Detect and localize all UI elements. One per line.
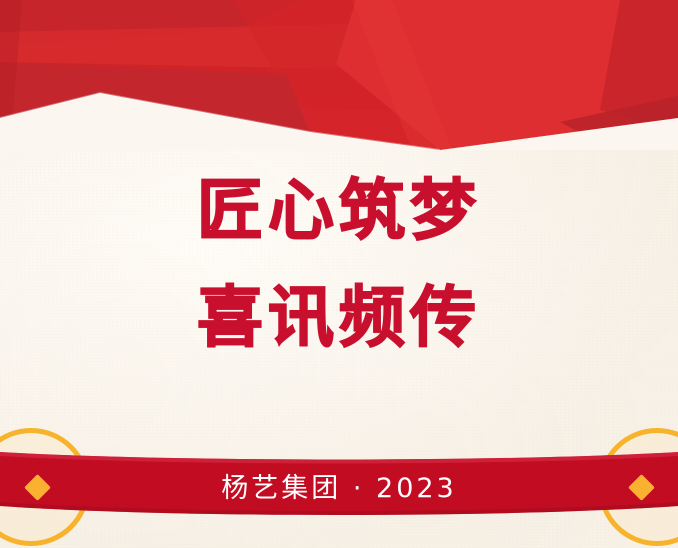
title-block: 匠心筑梦 喜讯频传 — [0, 178, 678, 351]
title-line-2: 喜讯频传 — [0, 285, 678, 351]
title-line-1: 匠心筑梦 — [0, 178, 678, 244]
celebration-poster: 匠心筑梦 喜讯频传 杨艺集团 · 2023 — [0, 0, 678, 548]
red-faceted-header — [0, 0, 678, 150]
ribbon-caption: 杨艺集团 · 2023 — [0, 466, 678, 505]
